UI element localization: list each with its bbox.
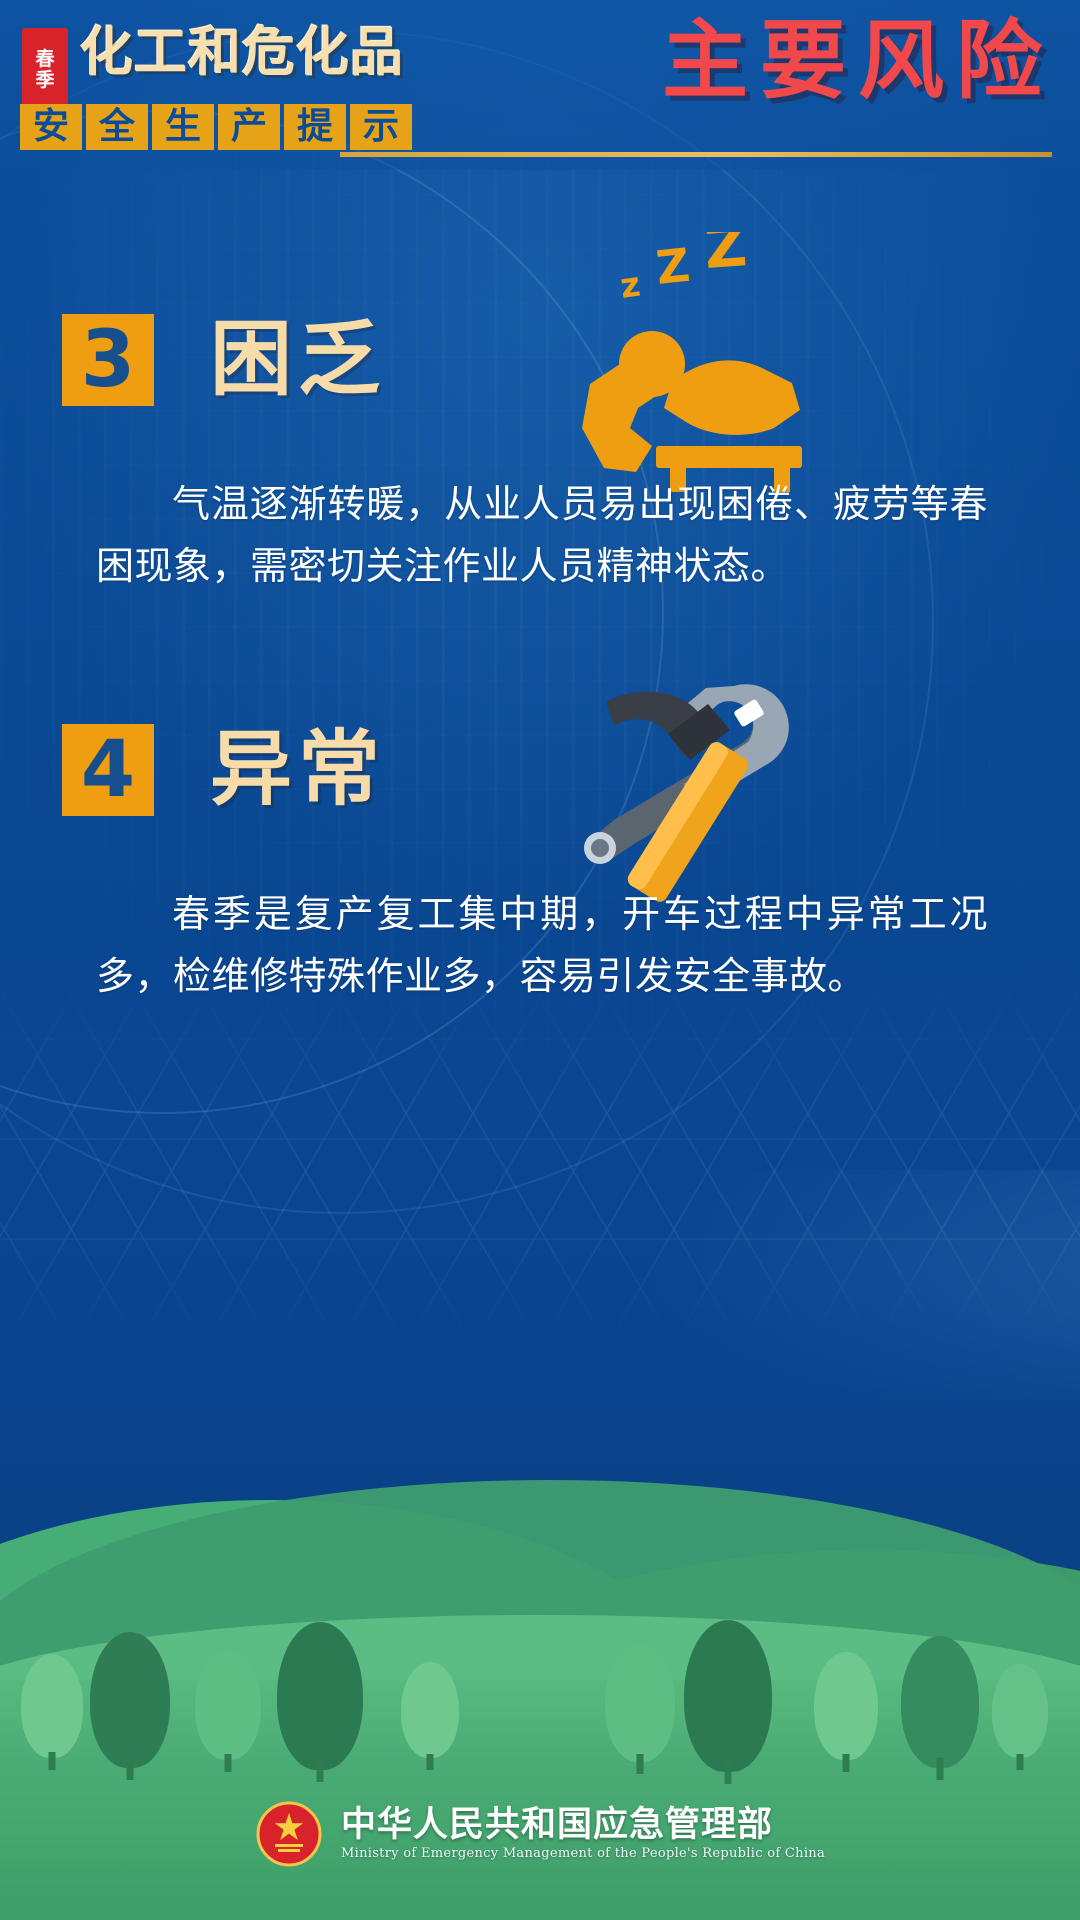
section-3: 3 困乏 气温逐渐转暖，从业人员易出现困倦、疲劳等春困现象，需密切关注作业人员精… xyxy=(0,300,1080,597)
header-cell-3: 生 xyxy=(152,104,214,150)
section-4: 4 异常 春季是复产复工集中期，开车过程中异常工况多，检维修特殊作业多，容易引发… xyxy=(0,710,1080,1007)
national-emblem-icon xyxy=(255,1800,323,1868)
header-cell-6: 示 xyxy=(350,104,412,150)
header-cell-4: 产 xyxy=(218,104,280,150)
section-4-heading: 4 异常 xyxy=(62,710,1080,830)
poster-main-title: 主要风险 xyxy=(662,18,1054,104)
landscape-footer: 中华人民共和国应急管理部 Ministry of Emergency Manag… xyxy=(0,1260,1080,1920)
poster-header: 春 季 化工和危化品 安 全 生 产 提 示 主要风险 xyxy=(0,0,1080,170)
header-gold-rule xyxy=(340,152,1052,157)
header-cell-1: 安 xyxy=(20,104,82,150)
section-3-body: 气温逐渐转暖，从业人员易出现困倦、疲劳等春困现象，需密切关注作业人员精神状态。 xyxy=(96,474,988,597)
ministry-text: 中华人民共和国应急管理部 Ministry of Emergency Manag… xyxy=(341,1808,825,1860)
seal-char-1: 春 xyxy=(35,50,54,69)
header-subtitle-line1: 化工和危化品 xyxy=(80,26,404,79)
header-cell-5: 提 xyxy=(284,104,346,150)
spring-season-seal: 春 季 xyxy=(22,28,68,112)
section-4-title: 异常 xyxy=(210,729,386,811)
section-3-title: 困乏 xyxy=(210,319,386,401)
ministry-logo: 中华人民共和国应急管理部 Ministry of Emergency Manag… xyxy=(0,1800,1080,1868)
header-cell-2: 全 xyxy=(86,104,148,150)
section-3-number-badge: 3 xyxy=(62,314,154,406)
svg-text:Z: Z xyxy=(702,232,749,282)
section-4-number-badge: 4 xyxy=(62,724,154,816)
svg-text:Z: Z xyxy=(654,238,693,295)
ministry-name-cn: 中华人民共和国应急管理部 xyxy=(341,1808,825,1843)
section-4-body: 春季是复产复工集中期，开车过程中异常工况多，检维修特殊作业多，容易引发安全事故。 xyxy=(96,884,988,1007)
poster-root: 春 季 化工和危化品 安 全 生 产 提 示 主要风险 z Z Z xyxy=(0,0,1080,1920)
header-subtitle-line2: 安 全 生 产 提 示 xyxy=(20,104,412,150)
section-3-heading: 3 困乏 xyxy=(62,300,1080,420)
ministry-name-en: Ministry of Emergency Management of the … xyxy=(341,1847,825,1860)
seal-char-2: 季 xyxy=(35,71,54,90)
